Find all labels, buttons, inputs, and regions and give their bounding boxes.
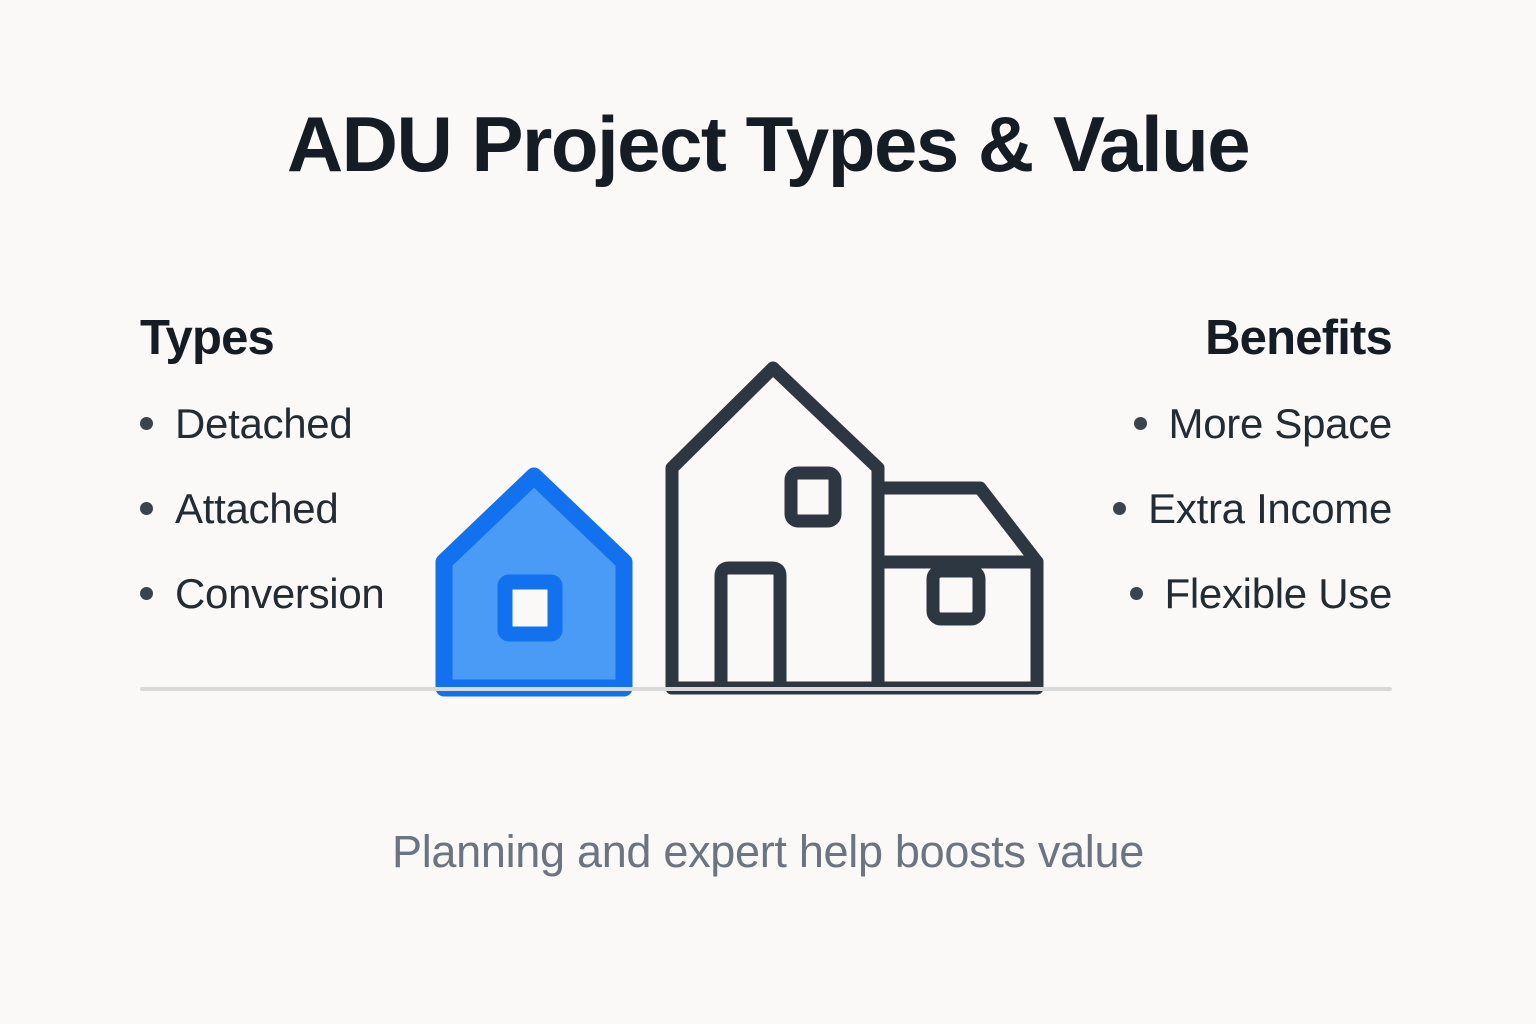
- list-item-label: Extra Income: [1148, 485, 1392, 532]
- bullet-dot-icon: [140, 587, 153, 600]
- main-house-wing-window-icon: [933, 571, 979, 619]
- ground-line: [140, 687, 1392, 691]
- benefits-column: Benefits More Space Extra Income Flexibl…: [1060, 312, 1392, 655]
- caption-text: Planning and expert help boosts value: [0, 826, 1536, 878]
- infographic-canvas: ADU Project Types & Value Types Detached…: [0, 0, 1536, 1024]
- bullet-dot-icon: [1130, 587, 1143, 600]
- page-title: ADU Project Types & Value: [0, 104, 1536, 186]
- list-item-label: Flexible Use: [1165, 570, 1392, 617]
- adu-house-icon: [444, 476, 624, 688]
- bullet-dot-icon: [140, 502, 153, 515]
- bullet-dot-icon: [1134, 417, 1147, 430]
- main-house-wing: [878, 488, 1037, 688]
- list-item-label: Conversion: [175, 570, 384, 617]
- list-item-label: More Space: [1169, 400, 1392, 447]
- benefits-heading: Benefits: [1060, 312, 1392, 366]
- list-item-label: Attached: [175, 485, 338, 532]
- bullet-dot-icon: [140, 417, 153, 430]
- main-house-upper-window-icon: [791, 473, 835, 521]
- benefits-list: More Space Extra Income Flexible Use: [1060, 400, 1392, 617]
- list-item-label: Detached: [175, 400, 352, 447]
- bullet-dot-icon: [1113, 502, 1126, 515]
- list-item: Flexible Use: [1060, 570, 1392, 617]
- list-item: More Space: [1060, 400, 1392, 447]
- adu-and-main-house-illustration: [400, 340, 1100, 710]
- list-item: Extra Income: [1060, 485, 1392, 532]
- adu-window-icon: [505, 582, 555, 634]
- main-house-door-icon: [721, 568, 780, 688]
